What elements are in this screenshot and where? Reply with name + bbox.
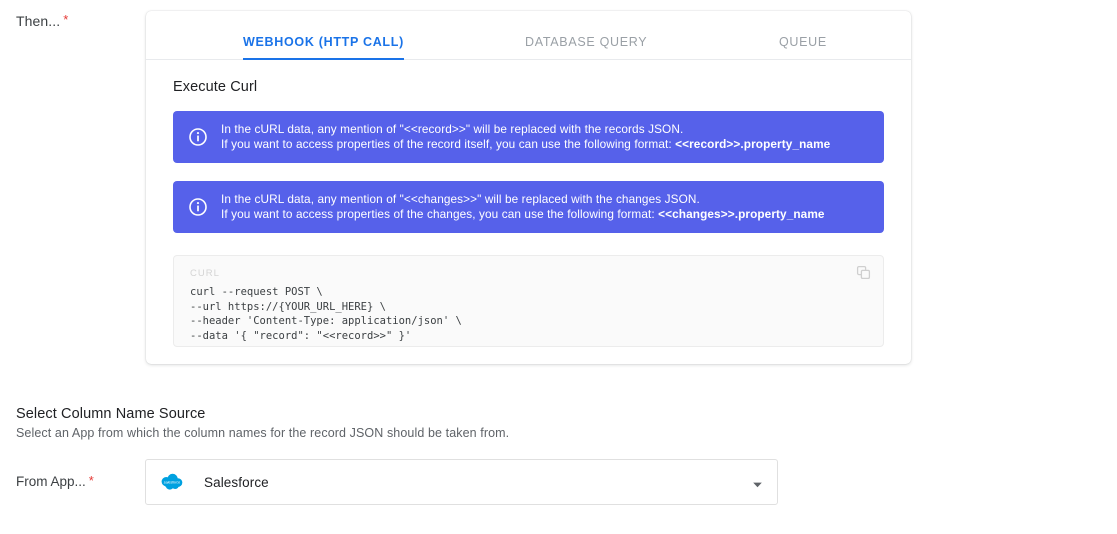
info-banner-record-format: <<record>>.property_name [675,137,830,151]
chevron-down-icon[interactable] [752,477,763,488]
column-source-subtitle: Select an App from which the column name… [16,426,509,440]
from-app-select[interactable]: salesforce Salesforce [145,459,778,505]
svg-text:salesforce: salesforce [164,481,180,485]
tab-webhook-http-call[interactable]: WEBHOOK (HTTP CALL) [243,35,404,59]
info-banner-changes-line2-prefix: If you want to access properties of the … [221,207,658,221]
then-required-asterisk: * [63,12,68,27]
info-banner-changes-line1: In the cURL data, any mention of "<<chan… [221,192,700,206]
code-language-label: CURL [190,268,867,279]
section-title-execute-curl: Execute Curl [173,79,884,95]
from-app-label-text: From App... [16,474,86,489]
info-icon [189,198,207,216]
info-icon [189,128,207,146]
copy-icon[interactable] [856,265,872,281]
action-card-body: Execute Curl In the cURL data, any menti… [146,79,911,347]
curl-code-text: curl --request POST \ --url https://{YOU… [190,285,867,343]
column-source-title: Select Column Name Source [16,406,205,422]
curl-code-block: CURL curl --request POST \ --url https:/… [173,255,884,347]
info-banner-record-text: In the cURL data, any mention of "<<reco… [221,122,830,153]
from-app-required-asterisk: * [89,473,94,488]
info-banner-record-line2-prefix: If you want to access properties of the … [221,137,675,151]
salesforce-logo: salesforce [158,472,186,492]
then-field-label: Then...* [16,13,68,29]
info-banner-record: In the cURL data, any mention of "<<reco… [173,111,884,163]
action-type-tabs: WEBHOOK (HTTP CALL) DATABASE QUERY QUEUE [146,11,911,60]
from-app-selected-value: Salesforce [204,475,752,490]
from-app-field-label: From App...* [16,474,94,489]
info-banner-changes-text: In the cURL data, any mention of "<<chan… [221,192,825,223]
tab-database-query[interactable]: DATABASE QUERY [525,35,647,59]
info-banner-record-line1: In the cURL data, any mention of "<<reco… [221,122,683,136]
info-banner-changes-format: <<changes>>.property_name [658,207,824,221]
info-banner-changes: In the cURL data, any mention of "<<chan… [173,181,884,233]
then-label-text: Then... [16,13,60,29]
tab-queue[interactable]: QUEUE [779,35,827,59]
action-config-card: WEBHOOK (HTTP CALL) DATABASE QUERY QUEUE… [146,11,911,364]
